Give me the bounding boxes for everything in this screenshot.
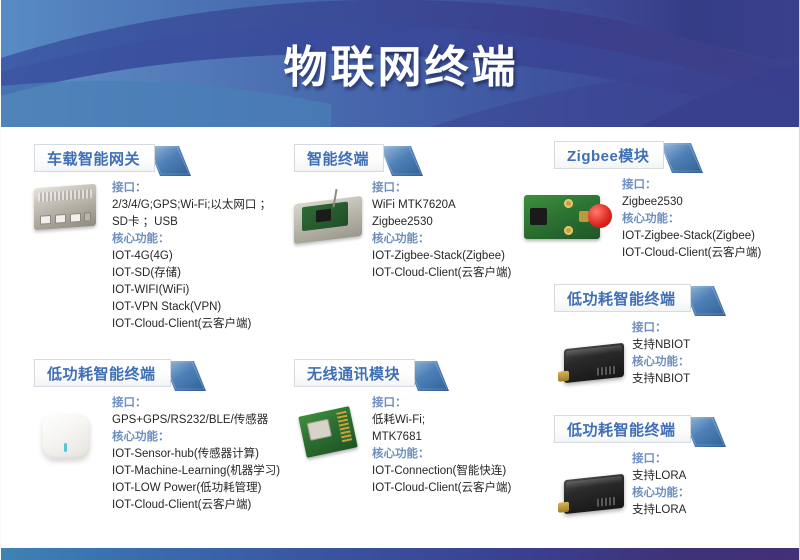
card-body: 接口： 低耗Wi-Fi; MTK7681 核心功能： IOT-Connectio… bbox=[294, 395, 534, 497]
card-vehicle-gateway[interactable]: 车载智能网关 接口： bbox=[34, 144, 284, 333]
card-low-power-terminal-nbiot[interactable]: 低功耗智能终端 接口： 支持NBIOT 核心功能： 支持NBIOT bbox=[554, 284, 794, 388]
smart-terminal-device bbox=[294, 200, 362, 240]
card-body: 接口： GPS+GPS/RS232/BLE/传感器 核心功能： IOT-Sens… bbox=[34, 395, 284, 514]
card-grid: 车载智能网关 接口： bbox=[1, 127, 800, 548]
card-title-badge: 无线通讯模块 bbox=[294, 359, 534, 389]
poster-page: 物联网终端 车载智能网关 bbox=[0, 0, 800, 560]
card-title: 智能终端 bbox=[294, 144, 384, 172]
core-function-value: 支持NBIOT bbox=[632, 371, 794, 388]
card-title-badge: 低功耗智能终端 bbox=[554, 284, 794, 314]
interface-label: 接口： bbox=[622, 177, 794, 194]
core-function-value: 支持LORA bbox=[632, 502, 794, 519]
interface-value: SD卡 ；USB bbox=[112, 214, 284, 231]
vehicle-gateway-device bbox=[34, 186, 96, 228]
core-function-label: 核心功能： bbox=[622, 211, 794, 228]
core-function-value: IOT-Cloud-Client(云客户端) bbox=[112, 497, 284, 514]
card-body: 接口： 支持NBIOT 核心功能： 支持NBIOT bbox=[554, 320, 794, 388]
chevron-arrow-icon bbox=[378, 145, 424, 178]
core-function-value: IOT-LOW Power(低功耗管理) bbox=[112, 480, 284, 497]
interface-value: MTK7681 bbox=[372, 429, 534, 446]
card-title: 无线通讯模块 bbox=[294, 359, 415, 387]
interface-value: Zigbee2530 bbox=[372, 214, 534, 231]
core-function-label: 核心功能： bbox=[372, 231, 534, 248]
core-function-value: IOT-VPN Stack(VPN) bbox=[112, 299, 284, 316]
card-body: 接口： Zigbee2530 核心功能： IOT-Zigbee-Stack(Zi… bbox=[554, 177, 794, 262]
card-smart-terminal[interactable]: 智能终端 接口： WiFi MTK7620A Zigbee2530 bbox=[294, 144, 534, 282]
chevron-arrow-icon bbox=[658, 142, 704, 175]
nbiot-device bbox=[564, 346, 624, 380]
card-wireless-module[interactable]: 无线通讯模块 接口： 低耗Wi-Fi; MTK7681 核心功能： bbox=[294, 359, 534, 497]
card-low-power-terminal-sensor[interactable]: 低功耗智能终端 接口： GPS+GPS/RS232/BLE/传感器 核心功能： bbox=[34, 359, 284, 514]
card-title: 车载智能网关 bbox=[34, 144, 155, 172]
core-function-value: IOT-Cloud-Client(云客户端) bbox=[112, 316, 284, 333]
interface-value: WiFi MTK7620A bbox=[372, 197, 534, 214]
core-function-value: IOT-Connection(智能快连) bbox=[372, 463, 534, 480]
card-zigbee-module[interactable]: Zigbee模块 接口： Zig bbox=[554, 141, 794, 262]
core-function-value: IOT-Cloud-Client(云客户端) bbox=[622, 245, 794, 262]
core-function-label: 核心功能： bbox=[112, 429, 284, 446]
core-function-value: IOT-Cloud-Client(云客户端) bbox=[372, 265, 534, 282]
interface-value: Zigbee2530 bbox=[622, 194, 794, 211]
card-title: 低功耗智能终端 bbox=[554, 415, 691, 443]
card-title-badge: 车载智能网关 bbox=[34, 144, 284, 174]
footer-accent-bar bbox=[1, 548, 800, 560]
card-body: 接口： 2/3/4/G;GPS;Wi-Fi;以太网口 ； SD卡 ；USB 核心… bbox=[34, 180, 284, 333]
card-low-power-terminal-lora[interactable]: 低功耗智能终端 接口： 支持LORA 核心功能： 支持LORA bbox=[554, 415, 794, 519]
card-specs: 接口： WiFi MTK7620A Zigbee2530 核心功能： IOT-Z… bbox=[372, 180, 534, 282]
interface-label: 接口： bbox=[632, 451, 794, 468]
core-function-value: IOT-Zigbee-Stack(Zigbee) bbox=[372, 248, 534, 265]
card-title-badge: 智能终端 bbox=[294, 144, 534, 174]
interface-label: 接口： bbox=[372, 395, 534, 412]
card-title-badge: Zigbee模块 bbox=[554, 141, 794, 171]
card-specs: 接口： 支持NBIOT 核心功能： 支持NBIOT bbox=[632, 320, 794, 388]
interface-value: 2/3/4/G;GPS;Wi-Fi;以太网口 ； bbox=[112, 197, 284, 214]
core-function-label: 核心功能： bbox=[632, 354, 794, 371]
white-sensor-device bbox=[42, 413, 90, 459]
interface-label: 接口： bbox=[632, 320, 794, 337]
interface-value: 支持LORA bbox=[632, 468, 794, 485]
core-function-value: IOT-WIFI(WiFi) bbox=[112, 282, 284, 299]
card-body: 接口： 支持LORA 核心功能： 支持LORA bbox=[554, 451, 794, 519]
card-body: 接口： WiFi MTK7620A Zigbee2530 核心功能： IOT-Z… bbox=[294, 180, 534, 282]
core-function-value: IOT-Cloud-Client(云客户端) bbox=[372, 480, 534, 497]
interface-value: 支持NBIOT bbox=[632, 337, 794, 354]
core-function-value: IOT-Zigbee-Stack(Zigbee) bbox=[622, 228, 794, 245]
card-specs: 接口： GPS+GPS/RS232/BLE/传感器 核心功能： IOT-Sens… bbox=[112, 395, 284, 514]
interface-label: 接口： bbox=[112, 395, 284, 412]
card-title-badge: 低功耗智能终端 bbox=[554, 415, 794, 445]
core-function-value: IOT-Machine-Learning(机器学习) bbox=[112, 463, 284, 480]
page-title: 物联网终端 bbox=[1, 31, 800, 95]
core-function-label: 核心功能： bbox=[112, 231, 284, 248]
interface-value: 低耗Wi-Fi; bbox=[372, 412, 534, 429]
header-banner: 物联网终端 bbox=[1, 0, 800, 127]
card-specs: 接口： 2/3/4/G;GPS;Wi-Fi;以太网口 ； SD卡 ；USB 核心… bbox=[112, 180, 284, 333]
card-title-badge: 低功耗智能终端 bbox=[34, 359, 284, 389]
interface-label: 接口： bbox=[372, 180, 534, 197]
core-function-label: 核心功能： bbox=[632, 485, 794, 502]
core-function-value: IOT-SD(存储) bbox=[112, 265, 284, 282]
interface-value: GPS+GPS/RS232/BLE/传感器 bbox=[112, 412, 284, 429]
core-function-value: IOT-4G(4G) bbox=[112, 248, 284, 265]
wireless-module-device bbox=[302, 411, 354, 453]
card-title: 低功耗智能终端 bbox=[554, 284, 691, 312]
card-title: 低功耗智能终端 bbox=[34, 359, 171, 387]
card-title: Zigbee模块 bbox=[554, 141, 664, 169]
card-specs: 接口： 支持LORA 核心功能： 支持LORA bbox=[632, 451, 794, 519]
card-specs: 接口： Zigbee2530 核心功能： IOT-Zigbee-Stack(Zi… bbox=[622, 177, 794, 262]
lora-device bbox=[564, 477, 624, 511]
core-function-value: IOT-Sensor-hub(传感器计算) bbox=[112, 446, 284, 463]
core-function-label: 核心功能： bbox=[372, 446, 534, 463]
zigbee-module-device bbox=[524, 195, 600, 239]
card-specs: 接口： 低耗Wi-Fi; MTK7681 核心功能： IOT-Connectio… bbox=[372, 395, 534, 497]
interface-label: 接口： bbox=[112, 180, 284, 197]
